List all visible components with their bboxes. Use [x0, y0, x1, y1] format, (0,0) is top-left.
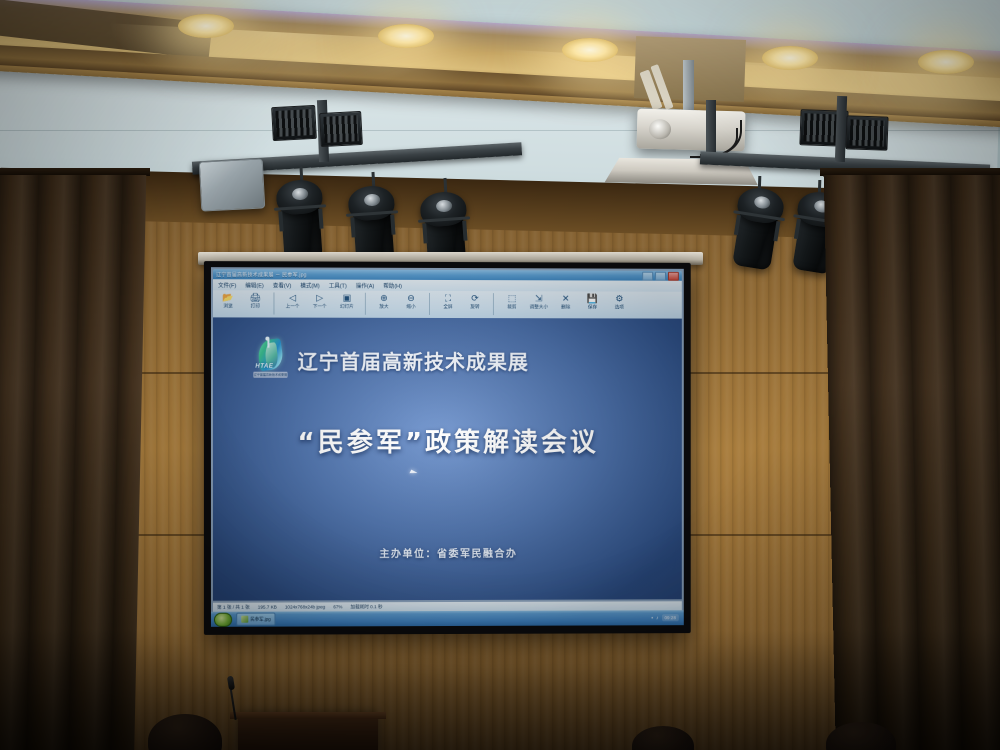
crop-icon: ⬚: [508, 293, 516, 303]
window-title: 辽宁首届高新技术成果展 － 民参军.jpg: [216, 271, 307, 278]
toolbar-button-slideshow[interactable]: ▣ 幻灯片: [336, 293, 358, 310]
toolbar-label: 删除: [561, 304, 570, 310]
menu-item-action[interactable]: 操作(A): [356, 281, 374, 289]
toolbar-label: 保存: [588, 304, 597, 310]
start-button[interactable]: [214, 612, 232, 626]
resize-icon: ⇲: [535, 293, 543, 303]
prev-icon: ◁: [289, 293, 296, 303]
toolbar-label: 选项: [615, 304, 624, 310]
toolbar-separator: [273, 292, 274, 314]
status-zoom-level: 67%: [333, 604, 342, 609]
image-viewer-window: 辽宁首届高新技术成果展 － 民参军.jpg 文件(F) 编辑(E) 查看(V) …: [211, 267, 684, 627]
stage-par-can-light: [275, 178, 327, 263]
toolbar-button-zoom-in[interactable]: ⊕ 放大: [373, 293, 395, 310]
settings-icon: ⚙: [615, 294, 623, 304]
projector-lens-icon: [649, 119, 672, 140]
toolbar-button-print[interactable]: 🖨 打印: [244, 292, 266, 309]
toolbar-label: 放大: [379, 304, 388, 310]
system-tray: ▪ ♪ 09:28: [651, 614, 681, 621]
toolbar-button-next[interactable]: ▷ 下一个: [309, 293, 331, 310]
maximize-button[interactable]: [655, 271, 666, 280]
toolbar-label: 旋转: [470, 304, 479, 310]
projection-screen: 辽宁首届高新技术成果展 － 民参军.jpg 文件(F) 编辑(E) 查看(V) …: [204, 261, 691, 635]
par-can-bracket: [318, 208, 323, 228]
print-icon: 🖨: [250, 292, 262, 302]
menu-item-file[interactable]: 文件(F): [218, 281, 236, 289]
status-load-time: 加载耗时 0.1 秒: [350, 604, 382, 610]
slide-canvas[interactable]: HTAE 辽宁首届高新技术成果展 辽宁首届高新技术成果展 “民参军”政策解读会议…: [213, 317, 682, 600]
toolbar-separator: [365, 293, 366, 315]
toolbar-button-fullscreen[interactable]: ⛶ 全屏: [437, 293, 459, 310]
toolbar: 📂 浏览 🖨 打印 ◁ 上一个 ▷ 下一个: [213, 290, 682, 320]
dimmer-grill-icon: [275, 109, 312, 137]
zoom-out-icon: ⊖: [407, 293, 415, 303]
recessed-downlight: [378, 24, 434, 48]
slideshow-icon: ▣: [343, 293, 352, 303]
logo-caption: 辽宁首届高新技术成果展: [253, 372, 287, 378]
stage-curtain-right: [824, 175, 1000, 750]
toolbar-label: 缩小: [406, 304, 415, 310]
save-icon: 💾: [587, 293, 598, 303]
menu-item-edit[interactable]: 编辑(E): [245, 281, 263, 289]
slide-main-title: “民参军”政策解读会议: [213, 422, 682, 459]
logo-acronym: HTAE: [255, 364, 273, 370]
projector-drop-pole: [683, 60, 694, 112]
slide-organizer: 主办单位：省委军民融合办: [213, 545, 682, 561]
toolbar-button-delete[interactable]: ✕ 删除: [555, 293, 577, 310]
toolbar-button-save[interactable]: 💾 保存: [582, 293, 604, 310]
dimmer-pack: [845, 115, 888, 150]
dimmer-grill-icon: [323, 115, 358, 143]
par-can-bracket: [390, 214, 395, 234]
menu-item-tools[interactable]: 工具(T): [329, 281, 347, 289]
dimmer-grill-icon: [850, 119, 885, 146]
menu-item-help[interactable]: 帮助(H): [383, 281, 402, 289]
par-can-bracket: [462, 220, 467, 240]
dimmer-pack: [319, 111, 363, 147]
htae-exhibition-logo: HTAE 辽宁首届高新技术成果展: [253, 340, 287, 380]
slide-header: HTAE 辽宁首届高新技术成果展 辽宁首届高新技术成果展: [253, 340, 529, 381]
recessed-downlight: [918, 50, 974, 74]
taskbar-task-item[interactable]: 民参军.jpg: [236, 613, 276, 626]
toolbar-button-zoom-out[interactable]: ⊖ 缩小: [400, 293, 422, 310]
status-file-size: 195.7 KB: [258, 605, 277, 610]
toolbar-label: 裁剪: [507, 304, 516, 310]
toolbar-button-crop[interactable]: ⬚ 裁剪: [501, 293, 523, 310]
volume-icon[interactable]: ♪: [656, 615, 658, 621]
recessed-downlight: [178, 14, 234, 38]
menu-item-view[interactable]: 查看(V): [273, 281, 291, 289]
slide-event-header: 辽宁首届高新技术成果展: [298, 345, 529, 374]
toolbar-button-options[interactable]: ⚙ 选项: [608, 293, 630, 310]
toolbar-button-browse[interactable]: 📂 浏览: [217, 292, 239, 309]
open-folder-icon: 📂: [222, 292, 233, 302]
toolbar-button-rotate[interactable]: ⟳ 旋转: [464, 293, 486, 310]
fullscreen-icon: ⛶: [445, 293, 451, 303]
logo-knob: [265, 337, 269, 341]
speaker-podium: [238, 716, 378, 750]
stage-curtain-left: [0, 175, 146, 750]
podium-top-surface: [230, 712, 386, 719]
recessed-downlight: [762, 46, 818, 70]
dimmer-pack: [271, 105, 317, 141]
toolbar-label: 打印: [251, 303, 260, 309]
toolbar-label: 上一个: [286, 304, 300, 310]
delete-icon: ✕: [562, 293, 570, 303]
truss-post: [706, 100, 716, 158]
toolbar-separator: [493, 293, 494, 315]
toolbar-button-resize[interactable]: ⇲ 调整大小: [528, 293, 550, 310]
rotate-icon: ⟳: [471, 293, 479, 303]
recessed-downlight: [562, 38, 618, 62]
toolbar-label: 下一个: [313, 304, 327, 310]
conference-hall-photo: 辽宁首届高新技术成果展 － 民参军.jpg 文件(F) 编辑(E) 查看(V) …: [0, 0, 1000, 750]
status-page-count: 第 1 张 / 共 1 张: [217, 604, 250, 610]
app-icon: [241, 616, 248, 623]
minimize-button[interactable]: [642, 271, 653, 280]
window-controls: [642, 271, 679, 280]
toolbar-label: 全屏: [443, 304, 452, 310]
wall-speaker: [199, 158, 266, 211]
status-dimensions: 1024x768x24b jpeg: [285, 604, 325, 609]
toolbar-label: 浏览: [223, 303, 232, 309]
taskbar-task-label: 民参军.jpg: [250, 616, 270, 622]
toolbar-label: 调整大小: [530, 304, 548, 310]
projection-screen-surface: 辽宁首届高新技术成果展 － 民参军.jpg 文件(F) 编辑(E) 查看(V) …: [211, 267, 684, 627]
next-icon: ▷: [316, 293, 323, 303]
menu-item-mode[interactable]: 模式(M): [300, 281, 319, 289]
toolbar-button-prev[interactable]: ◁ 上一个: [282, 292, 304, 309]
taskbar-clock[interactable]: 09:28: [662, 614, 679, 621]
toolbar-separator: [429, 293, 430, 315]
network-icon[interactable]: ▪: [651, 615, 653, 621]
toolbar-label: 幻灯片: [340, 304, 354, 310]
zoom-in-icon: ⊕: [380, 293, 388, 303]
windows-taskbar: 民参军.jpg ▪ ♪ 09:28: [211, 610, 684, 627]
close-button[interactable]: [668, 271, 679, 280]
